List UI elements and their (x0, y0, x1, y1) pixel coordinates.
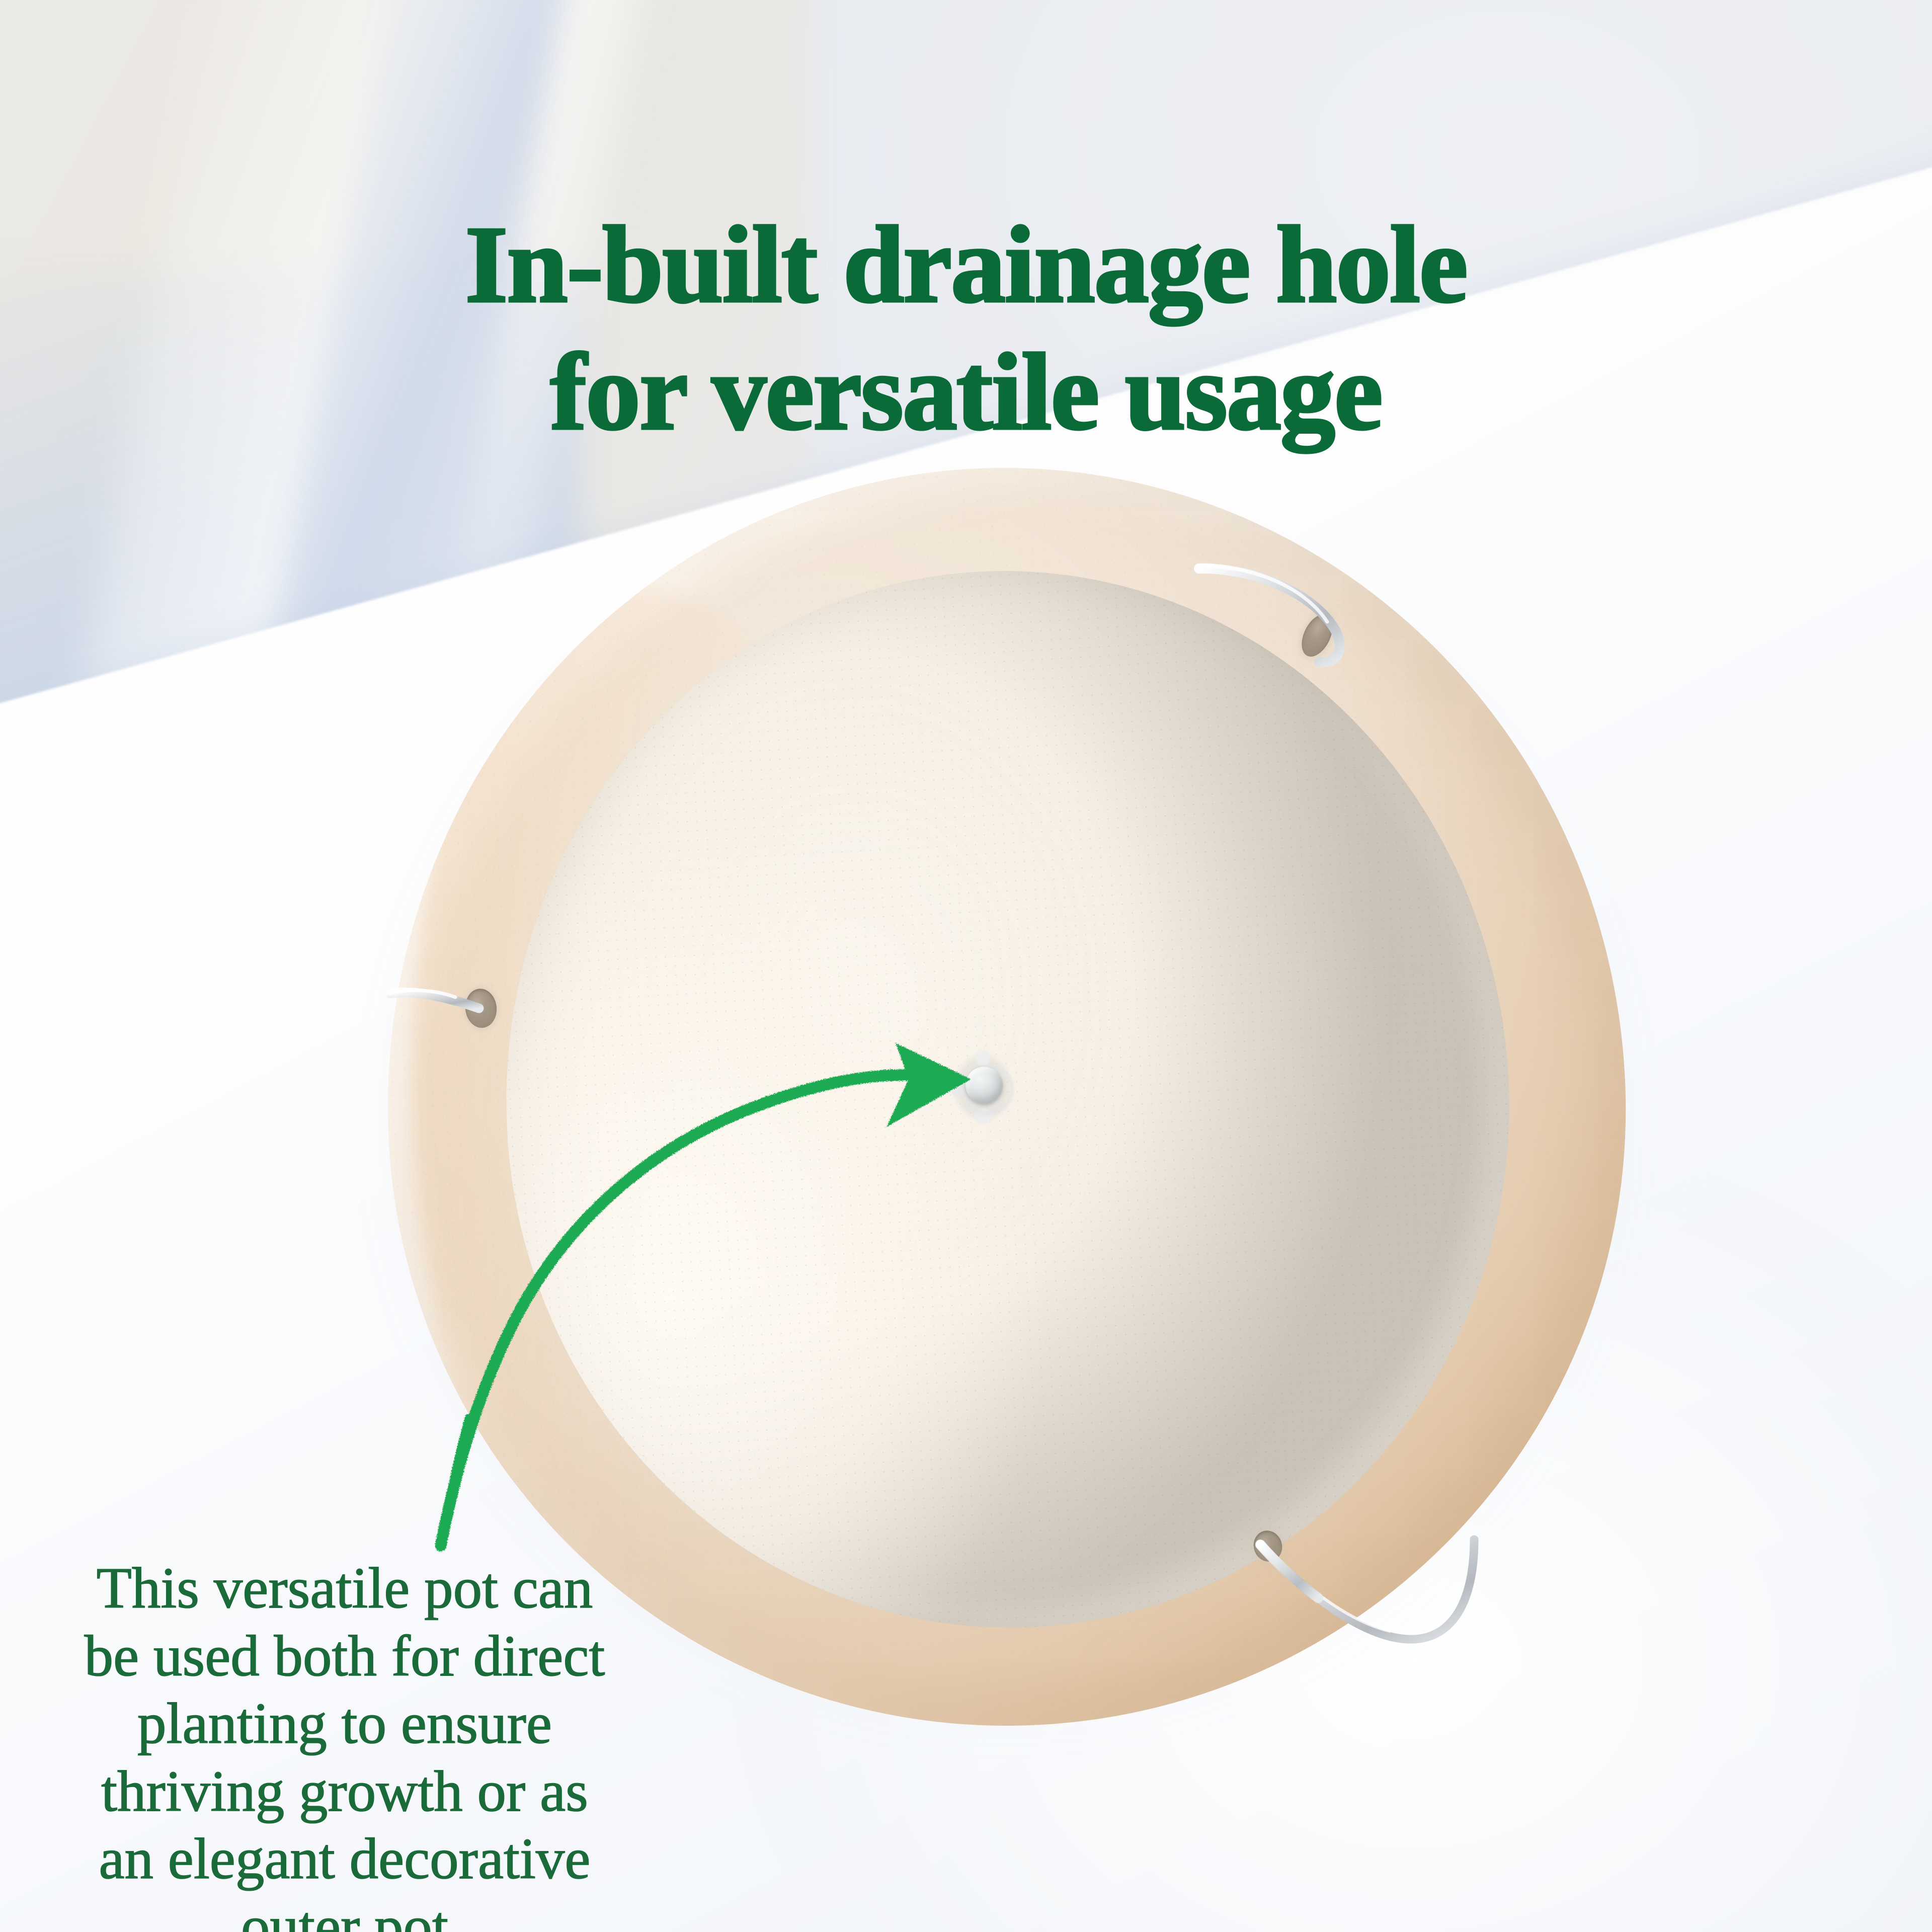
page-title: In-built drainage hole for versatile usa… (0, 202, 1932, 456)
drainage-hole-plug (952, 1053, 1013, 1123)
headline-line-1: In-built drainage hole (116, 202, 1816, 329)
poster-canvas: In-built drainage hole for versatile usa… (0, 0, 1932, 1932)
headline-line-2: for versatile usage (116, 329, 1816, 456)
drainage-hole-sealant-top (976, 1050, 990, 1067)
caption-line-3: planting to ensure (137, 1692, 552, 1755)
caption-line-2: be used both for direct (85, 1624, 605, 1688)
caption-line-6: outer pot (241, 1895, 448, 1932)
caption-line-1: This versatile pot can (97, 1556, 593, 1620)
feature-caption: This versatile pot can be used both for … (35, 1555, 654, 1932)
drainage-hole-stopper (965, 1067, 1003, 1104)
wire-left (390, 990, 479, 1008)
caption-line-5: an elegant decorative (99, 1827, 591, 1891)
wire-top-right (1199, 567, 1340, 662)
cable-bottom-right (1260, 1540, 1474, 1639)
caption-line-4: thriving growth or as (101, 1759, 588, 1823)
